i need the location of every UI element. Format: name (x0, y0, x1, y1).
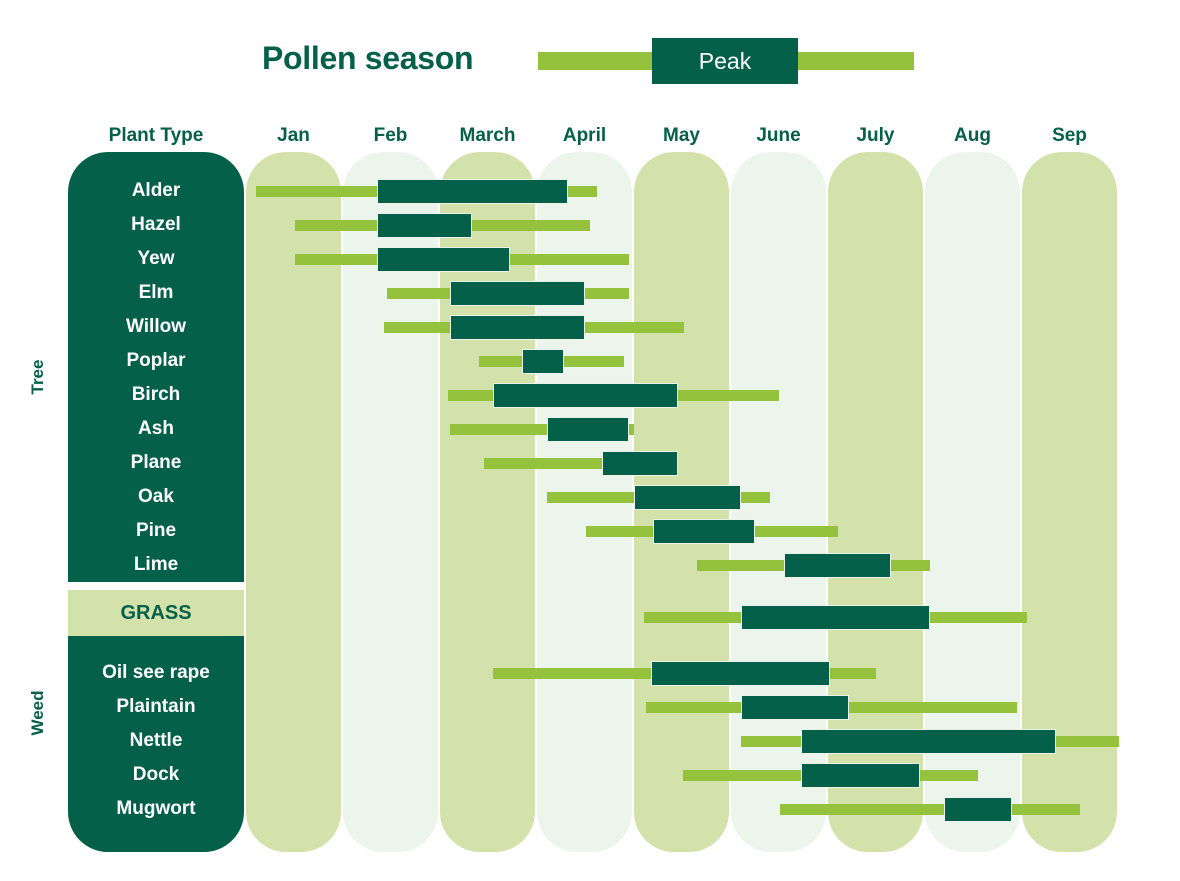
bar-row-willow (0, 310, 1180, 344)
bar-row-grass (0, 596, 1180, 630)
bar-row-poplar (0, 344, 1180, 378)
month-header-aug: Aug (925, 125, 1020, 151)
peak-bar (377, 179, 568, 204)
plant-type-header: Plant Type (68, 125, 244, 151)
bar-row-ash (0, 412, 1180, 446)
peak-bar (653, 519, 755, 544)
peak-bar (602, 451, 678, 476)
bar-row-birch (0, 378, 1180, 412)
season-bar (780, 804, 1081, 815)
bar-row-alder (0, 174, 1180, 208)
peak-bar (801, 729, 1056, 754)
peak-bar (450, 315, 586, 340)
bar-row-oil-see-rape (0, 656, 1180, 690)
month-header-july: July (828, 125, 923, 151)
bar-row-yew (0, 242, 1180, 276)
peak-bar (651, 661, 829, 686)
peak-bar (522, 349, 564, 374)
bar-row-pine (0, 514, 1180, 548)
month-header-march: March (440, 125, 535, 151)
peak-bar (741, 695, 850, 720)
bar-row-hazel (0, 208, 1180, 242)
bar-row-lime (0, 548, 1180, 582)
page-title: Pollen season (262, 40, 473, 77)
month-header-feb: Feb (343, 125, 438, 151)
pollen-season-chart: Pollen season Peak JanFebMarchAprilMayJu… (0, 0, 1180, 881)
peak-bar (547, 417, 629, 442)
month-header-june: June (731, 125, 826, 151)
peak-bar (801, 763, 920, 788)
peak-bar (784, 553, 891, 578)
legend-peak-badge: Peak (652, 38, 798, 84)
month-header-sep: Sep (1022, 125, 1117, 151)
legend: Peak (538, 52, 914, 70)
peak-bar (377, 247, 510, 272)
bar-row-plane (0, 446, 1180, 480)
month-header-jan: Jan (246, 125, 341, 151)
peak-bar (634, 485, 741, 510)
peak-bar (450, 281, 586, 306)
month-header-may: May (634, 125, 729, 151)
peak-bar (741, 605, 930, 630)
bar-row-plaintain (0, 690, 1180, 724)
peak-bar (944, 797, 1012, 822)
month-header-april: April (537, 125, 632, 151)
bar-row-dock (0, 758, 1180, 792)
bar-row-elm (0, 276, 1180, 310)
peak-bar (377, 213, 472, 238)
bar-row-nettle (0, 724, 1180, 758)
bar-row-oak (0, 480, 1180, 514)
bar-row-mugwort (0, 792, 1180, 826)
peak-bar (493, 383, 677, 408)
